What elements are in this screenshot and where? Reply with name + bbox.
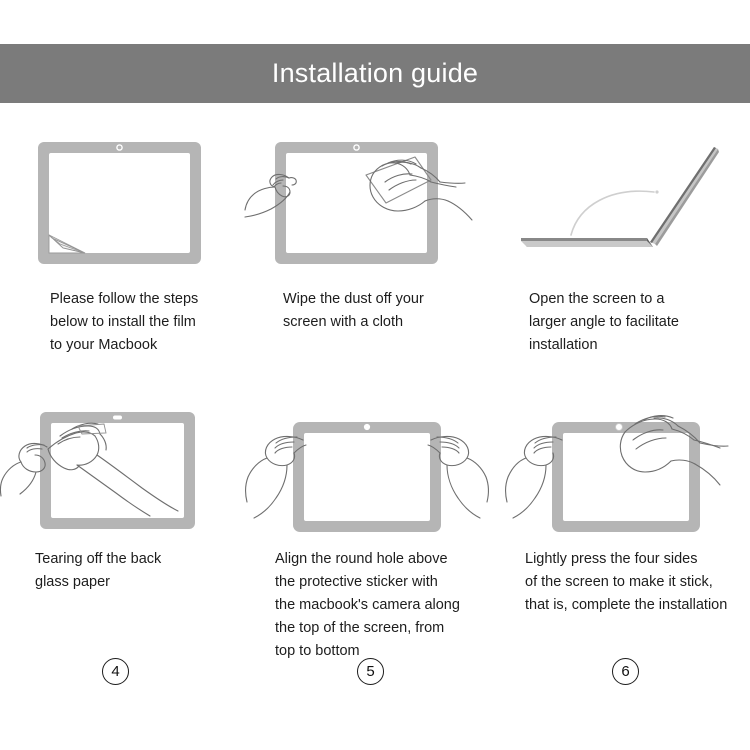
steps-grid: Please follow the steps below to install… [0, 130, 750, 530]
camera-dot-icon [113, 416, 122, 420]
step-3-caption: Open the screen to a larger angle to fac… [529, 288, 679, 357]
step-6-illustration [507, 400, 750, 530]
step-4-caption: Tearing off the back glass paper [35, 548, 161, 594]
step-card-3: Open the screen to a larger angle to fac… [507, 130, 750, 400]
step-number-6: 6 [612, 658, 639, 685]
arc-endpoint-icon [655, 190, 658, 193]
step-3-illustration [507, 130, 750, 260]
step-number-5: 5 [357, 658, 384, 685]
laptop-base-icon [521, 238, 653, 247]
step-5-caption: Align the round hole above the protectiv… [275, 548, 460, 663]
step-card-4: Tearing off the back glass paper 4 [0, 400, 245, 530]
step-card-6: Lightly press the four sides of the scre… [507, 400, 750, 530]
step-card-1: Please follow the steps below to install… [0, 130, 245, 400]
step-card-5: Align the round hole above the protectiv… [245, 400, 507, 530]
step-1-illustration [0, 130, 245, 260]
open-angle-arc-icon [571, 191, 654, 235]
camera-hole-icon [616, 424, 623, 431]
step-5-illustration [245, 400, 507, 530]
step-4-illustration [0, 400, 245, 530]
step-card-2: Wipe the dust off your screen with a clo… [245, 130, 507, 400]
step-1-caption: Please follow the steps below to install… [50, 288, 198, 357]
step-number-4: 4 [102, 658, 129, 685]
laptop-lid-icon [650, 147, 719, 246]
camera-hole-icon [364, 424, 370, 430]
step-2-caption: Wipe the dust off your screen with a clo… [283, 288, 424, 334]
page-title: Installation guide [272, 60, 478, 87]
step-6-caption: Lightly press the four sides of the scre… [525, 548, 727, 617]
step-2-illustration [245, 130, 507, 260]
header-bar: Installation guide [0, 44, 750, 103]
